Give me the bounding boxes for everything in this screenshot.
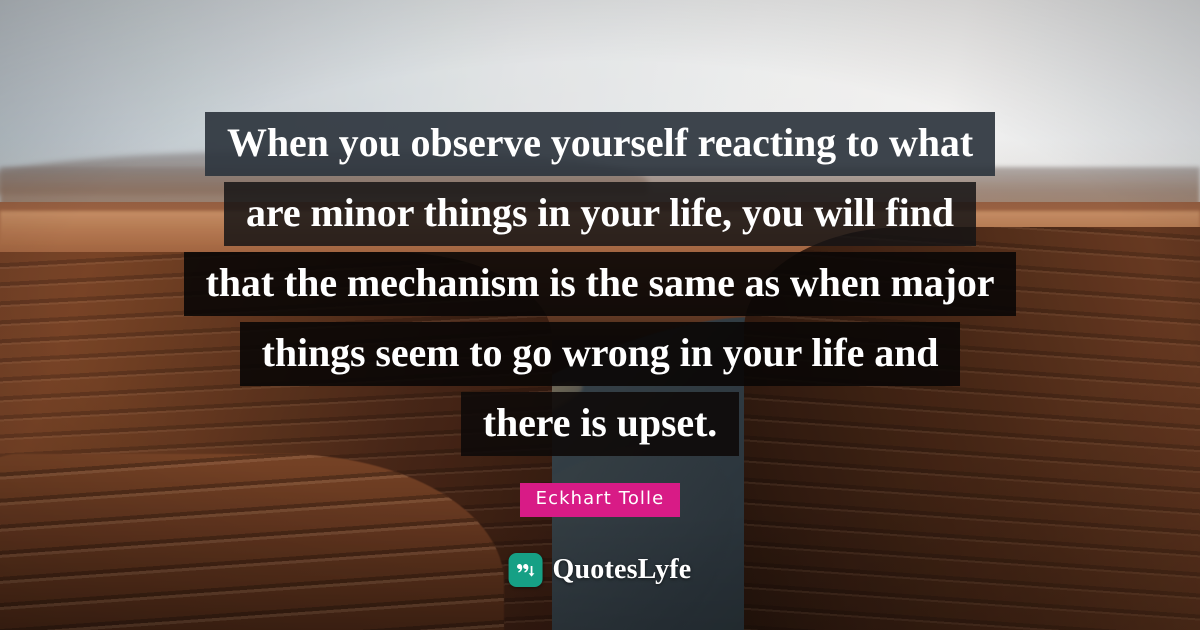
quote-line-1: When you observe yourself reacting to wh… bbox=[205, 112, 995, 176]
quote-line-4: things seem to go wrong in your life and bbox=[240, 322, 961, 386]
author-name-badge: Eckhart Tolle bbox=[520, 483, 681, 517]
quote-line-2: are minor things in your life, you will … bbox=[224, 182, 976, 246]
author-attribution: Eckhart Tolle bbox=[520, 483, 681, 517]
quote-text-block: When you observe yourself reacting to wh… bbox=[0, 112, 1200, 517]
brand-logo[interactable]: QuotesLyfe bbox=[509, 553, 692, 587]
quote-line-3: that the mechanism is the same as when m… bbox=[184, 252, 1017, 316]
quote-overlay: When you observe yourself reacting to wh… bbox=[0, 0, 1200, 630]
quote-image-canvas: When you observe yourself reacting to wh… bbox=[0, 0, 1200, 630]
brand-name: QuotesLyfe bbox=[553, 554, 692, 586]
quote-mark-icon bbox=[509, 553, 543, 587]
quote-line-5: there is upset. bbox=[461, 392, 739, 456]
